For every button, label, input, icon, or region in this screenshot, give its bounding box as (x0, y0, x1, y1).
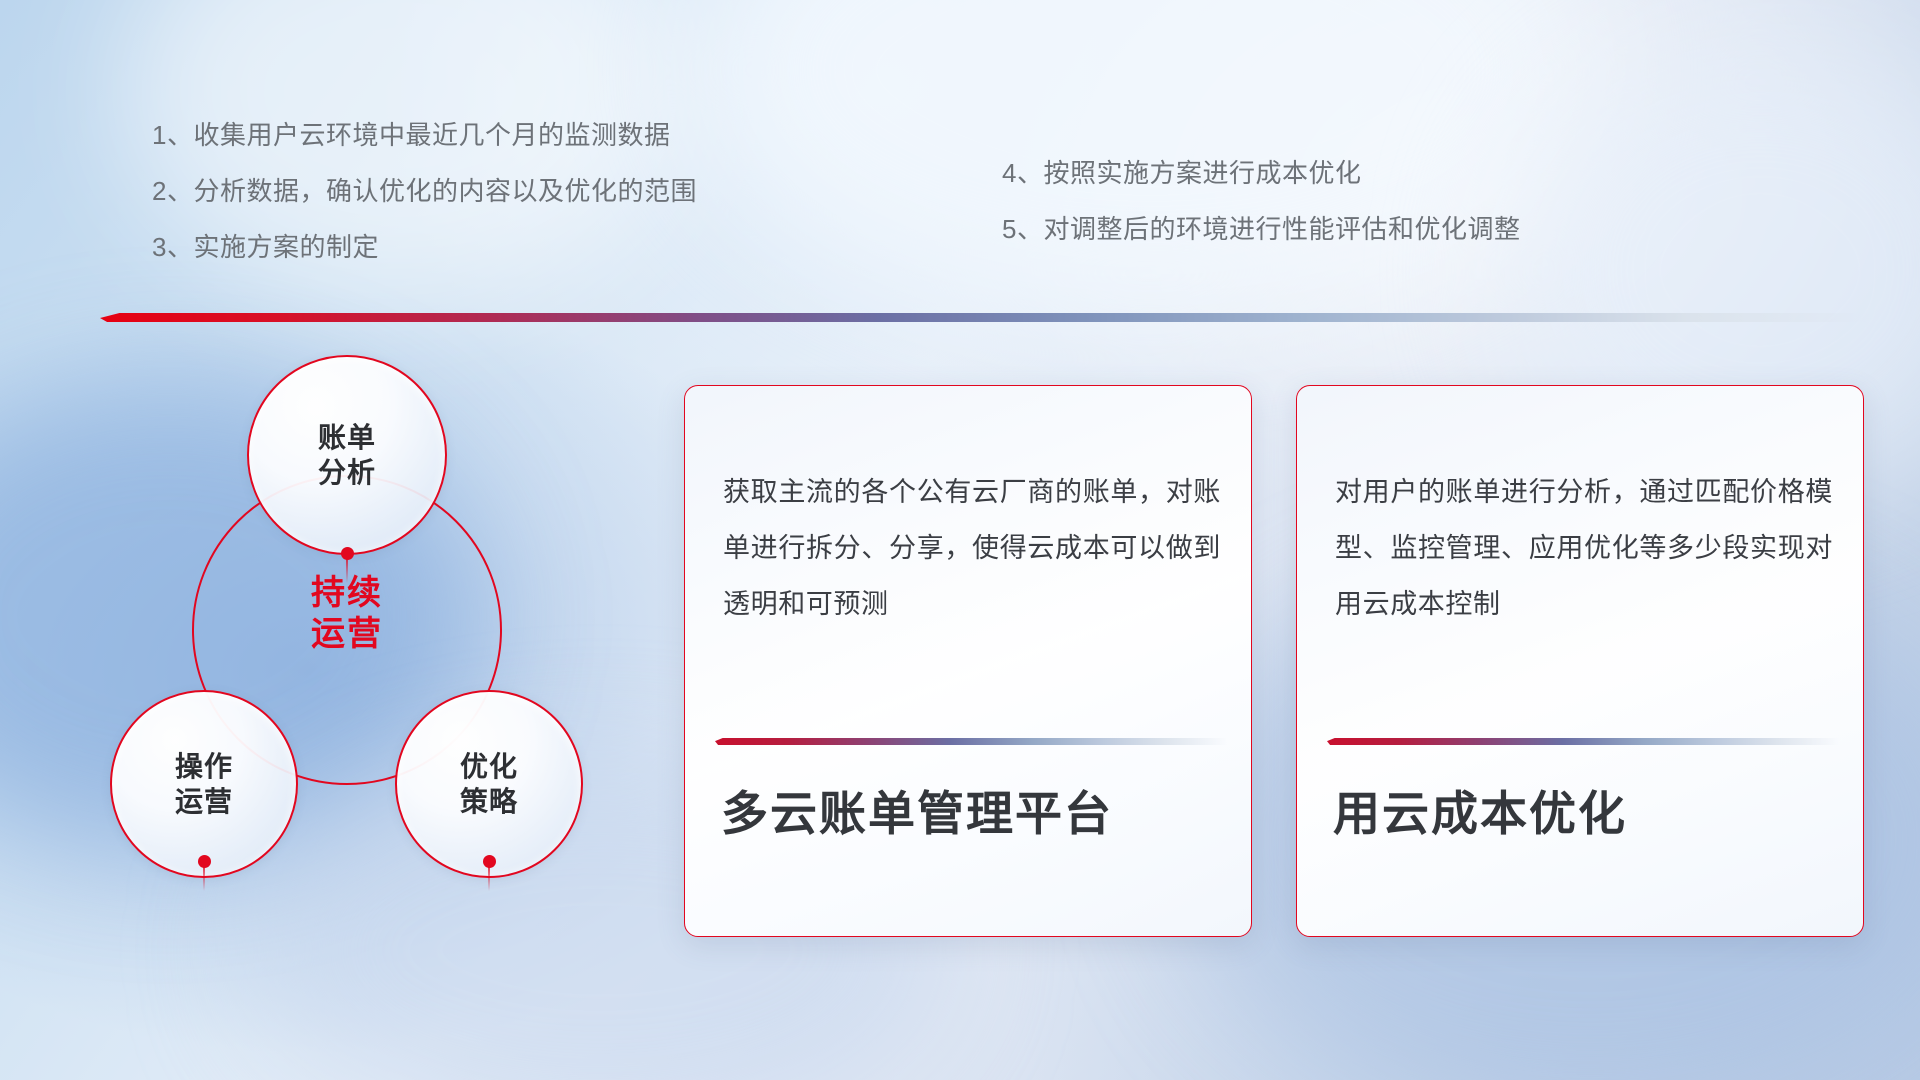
diagram-center-label: 持续 运营 (192, 573, 502, 656)
diagram-connector-top (346, 557, 348, 583)
diagram-node-operations[interactable]: 操作 运营 (110, 690, 298, 878)
diagram-dot-left (198, 855, 211, 868)
node-right-line1: 优化 (460, 751, 518, 782)
slide-canvas: 1、收集用户云环境中最近几个月的监测数据 2、分析数据，确认优化的内容以及优化的… (0, 0, 1920, 1080)
bullet-item-4: 4、按照实施方案进行成本优化 (1002, 160, 1520, 186)
node-top-line2: 分析 (318, 455, 376, 490)
diagram-node-billing-analysis[interactable]: 账单 分析 (247, 355, 447, 555)
card-1-rule (715, 738, 1227, 745)
node-label-left: 操作 运营 (175, 749, 233, 819)
node-label-right: 优化 策略 (460, 749, 518, 819)
node-left-line2: 运营 (175, 784, 233, 819)
bullet-item-5: 5、对调整后的环境进行性能评估和优化调整 (1002, 216, 1520, 242)
card-1-title: 多云账单管理平台 (721, 786, 1227, 842)
card-2-rule (1327, 738, 1839, 745)
feature-card-2[interactable]: 对用户的账单进行分析，通过匹配价格模型、监控管理、应用优化等多少段实现对用云成本… (1296, 385, 1864, 937)
diagram-connector-left (203, 865, 205, 891)
card-1-body: 获取主流的各个公有云厂商的账单，对账单进行拆分、分享，使得云成本可以做到透明和可… (723, 464, 1221, 632)
node-label-top: 账单 分析 (318, 420, 376, 490)
card-2-body: 对用户的账单进行分析，通过匹配价格模型、监控管理、应用优化等多少段实现对用云成本… (1335, 464, 1833, 632)
card-2-title: 用云成本优化 (1333, 786, 1839, 842)
feature-card-1[interactable]: 获取主流的各个公有云厂商的账单，对账单进行拆分、分享，使得云成本可以做到透明和可… (684, 385, 1252, 937)
cycle-diagram: 持续 运营 账单 分析 操作 运营 优化 策略 (100, 355, 620, 915)
bullet-list-right: 4、按照实施方案进行成本优化 5、对调整后的环境进行性能评估和优化调整 (1002, 160, 1520, 242)
bullet-list-left: 1、收集用户云环境中最近几个月的监测数据 2、分析数据，确认优化的内容以及优化的… (152, 122, 697, 260)
diagram-connector-right (488, 865, 490, 891)
section-divider (100, 313, 1870, 322)
bullet-item-1: 1、收集用户云环境中最近几个月的监测数据 (152, 122, 697, 148)
diagram-dot-top (341, 547, 354, 560)
bullet-item-2: 2、分析数据，确认优化的内容以及优化的范围 (152, 178, 697, 204)
node-top-line1: 账单 (318, 422, 376, 453)
node-right-line2: 策略 (460, 784, 518, 819)
diagram-dot-right (483, 855, 496, 868)
center-label-line2: 运营 (192, 614, 502, 655)
diagram-node-optimization-strategy[interactable]: 优化 策略 (395, 690, 583, 878)
node-left-line1: 操作 (175, 751, 233, 782)
bullet-item-3: 3、实施方案的制定 (152, 234, 697, 260)
